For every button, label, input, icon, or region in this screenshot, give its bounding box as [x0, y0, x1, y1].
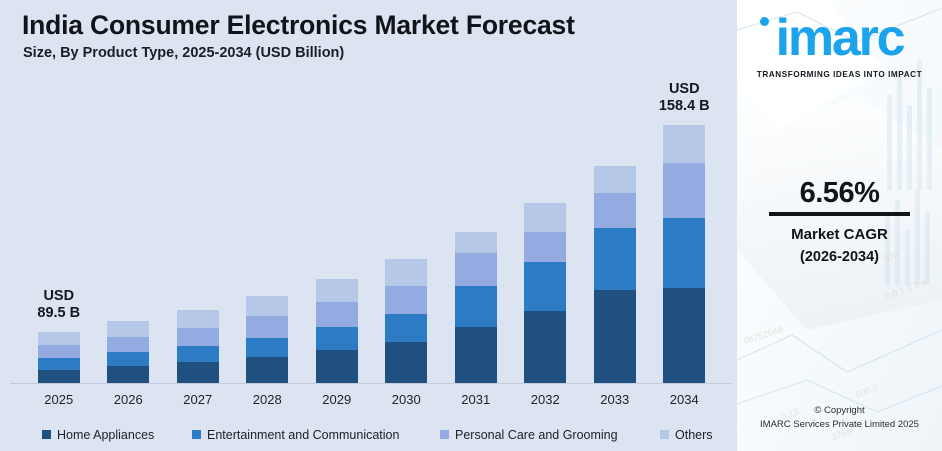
copyright-notice: © Copyright IMARC Services Private Limit… [737, 404, 942, 432]
bar-segment-others[interactable] [663, 125, 705, 163]
bar-segment-others[interactable] [38, 332, 80, 345]
bar-segment-entertainment-and-communication[interactable] [524, 262, 566, 311]
end-value-label: USD 158.4 B [639, 81, 729, 115]
legend-item-label: Entertainment and Communication [207, 428, 399, 442]
bar-segment-personal-care-and-grooming[interactable] [246, 316, 288, 338]
cagr-label: Market CAGR [737, 226, 942, 243]
bar-segment-home-appliances[interactable] [385, 342, 427, 383]
end-value-amount: 158.4 B [639, 98, 729, 115]
bar-2031[interactable] [455, 232, 497, 383]
x-axis-label-2030: 2030 [366, 392, 446, 407]
copyright-line-2: IMARC Services Private Limited 2025 [737, 418, 942, 432]
bar-2028[interactable] [246, 296, 288, 383]
bar-segment-home-appliances[interactable] [38, 370, 80, 383]
cagr-period: (2026-2034) [737, 249, 942, 265]
legend-swatch-icon [192, 430, 201, 439]
bar-segment-others[interactable] [455, 232, 497, 253]
bar-segment-personal-care-and-grooming[interactable] [594, 193, 636, 228]
start-value-currency: USD [14, 288, 104, 305]
x-axis-line [10, 383, 732, 384]
bar-segment-home-appliances[interactable] [107, 366, 149, 383]
imarc-logo-dot-icon [760, 17, 769, 26]
bar-2034[interactable] [663, 125, 705, 383]
stacked-bar-chart: 2025202620272028202920302031203220332034… [0, 0, 737, 395]
x-axis-label-2034: 2034 [644, 392, 724, 407]
x-axis-label-2029: 2029 [297, 392, 377, 407]
bar-segment-entertainment-and-communication[interactable] [455, 286, 497, 327]
imarc-logo-tagline: TRANSFORMING IDEAS INTO IMPACT [737, 70, 942, 79]
legend-item-home-appliances[interactable]: Home Appliances [42, 428, 154, 442]
x-axis-label-2032: 2032 [505, 392, 585, 407]
imarc-logo: imarc TRANSFORMING IDEAS INTO IMPACT [737, 8, 942, 86]
bar-segment-others[interactable] [246, 296, 288, 316]
bar-segment-personal-care-and-grooming[interactable] [455, 253, 497, 286]
start-value-label: USD 89.5 B [14, 288, 104, 322]
bar-segment-home-appliances[interactable] [663, 288, 705, 383]
bar-2026[interactable] [107, 321, 149, 383]
brand-panel: 0826204B 0.15 2768 500.0 500 0.0 1 2 3 4… [737, 0, 942, 451]
copyright-line-1: © Copyright [737, 404, 942, 418]
bar-segment-personal-care-and-grooming[interactable] [107, 337, 149, 352]
x-axis-label-2031: 2031 [436, 392, 516, 407]
bar-segment-personal-care-and-grooming[interactable] [385, 286, 427, 314]
start-value-amount: 89.5 B [14, 305, 104, 322]
chart-legend: Home AppliancesEntertainment and Communi… [0, 418, 737, 451]
bar-2025[interactable] [38, 332, 80, 383]
bar-segment-home-appliances[interactable] [594, 290, 636, 383]
legend-item-label: Others [675, 428, 713, 442]
bar-segment-personal-care-and-grooming[interactable] [38, 345, 80, 358]
bar-segment-personal-care-and-grooming[interactable] [524, 232, 566, 262]
end-value-currency: USD [639, 81, 729, 98]
x-axis-label-2026: 2026 [88, 392, 168, 407]
x-axis-label-2027: 2027 [158, 392, 238, 407]
legend-item-entertainment-and-communication[interactable]: Entertainment and Communication [192, 428, 399, 442]
chart-panel: India Consumer Electronics Market Foreca… [0, 0, 737, 451]
legend-swatch-icon [660, 430, 669, 439]
bar-segment-entertainment-and-communication[interactable] [594, 228, 636, 290]
bar-2030[interactable] [385, 259, 427, 383]
bar-segment-personal-care-and-grooming[interactable] [316, 302, 358, 327]
infographic-canvas: India Consumer Electronics Market Foreca… [0, 0, 942, 451]
bar-segment-entertainment-and-communication[interactable] [246, 338, 288, 357]
bar-segment-others[interactable] [524, 203, 566, 232]
bar-segment-entertainment-and-communication[interactable] [385, 314, 427, 342]
bar-segment-entertainment-and-communication[interactable] [107, 352, 149, 366]
bar-segment-others[interactable] [385, 259, 427, 286]
bar-segment-others[interactable] [107, 321, 149, 337]
cagr-value: 6.56% [737, 177, 942, 210]
cagr-divider [769, 212, 910, 216]
legend-swatch-icon [440, 430, 449, 439]
bar-segment-entertainment-and-communication[interactable] [177, 346, 219, 362]
bar-segment-home-appliances[interactable] [246, 357, 288, 383]
legend-item-label: Personal Care and Grooming [455, 428, 618, 442]
bar-segment-entertainment-and-communication[interactable] [316, 327, 358, 350]
bar-segment-home-appliances[interactable] [177, 362, 219, 383]
bar-segment-entertainment-and-communication[interactable] [38, 358, 80, 370]
bar-2032[interactable] [524, 203, 566, 383]
bar-segment-home-appliances[interactable] [524, 311, 566, 383]
bar-segment-others[interactable] [316, 279, 358, 302]
x-axis-label-2028: 2028 [227, 392, 307, 407]
legend-swatch-icon [42, 430, 51, 439]
bar-segment-home-appliances[interactable] [316, 350, 358, 383]
legend-item-label: Home Appliances [57, 428, 154, 442]
bar-segment-personal-care-and-grooming[interactable] [663, 163, 705, 218]
bar-segment-personal-care-and-grooming[interactable] [177, 328, 219, 346]
legend-item-others[interactable]: Others [660, 428, 713, 442]
bar-segment-entertainment-and-communication[interactable] [663, 218, 705, 288]
bar-segment-others[interactable] [594, 166, 636, 193]
bar-segment-home-appliances[interactable] [455, 327, 497, 383]
bar-segment-others[interactable] [177, 310, 219, 328]
x-axis-label-2025: 2025 [19, 392, 99, 407]
bar-2033[interactable] [594, 166, 636, 383]
x-axis-label-2033: 2033 [575, 392, 655, 407]
legend-item-personal-care-and-grooming[interactable]: Personal Care and Grooming [440, 428, 618, 442]
bar-2029[interactable] [316, 279, 358, 383]
bar-2027[interactable] [177, 310, 219, 383]
